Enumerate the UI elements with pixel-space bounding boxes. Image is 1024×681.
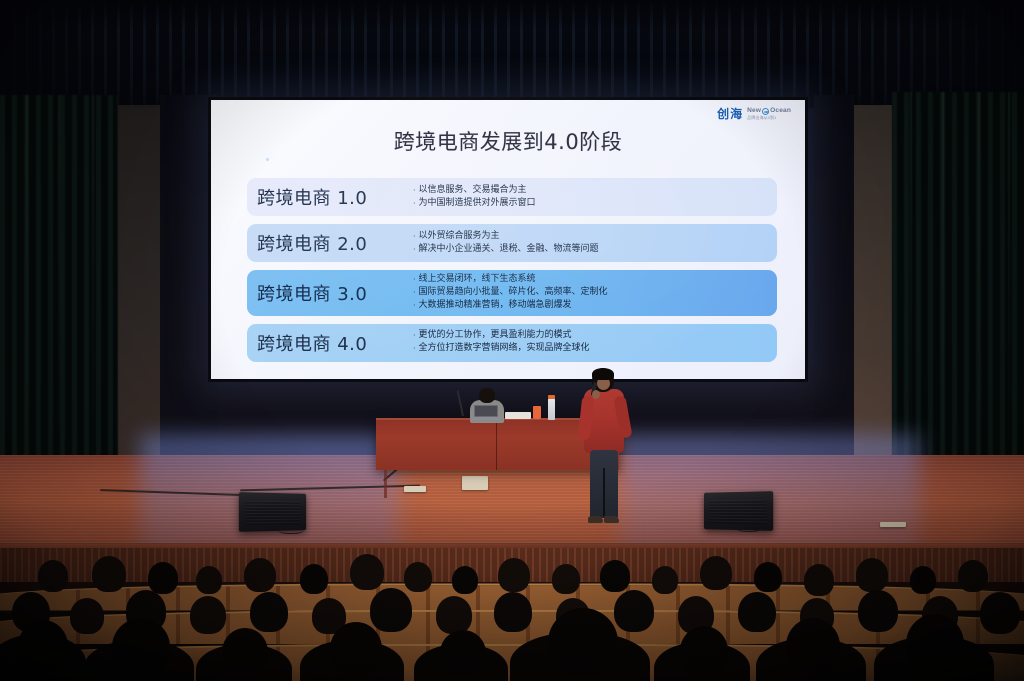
bullet-item: · 解决中小企业通关、退税、金融、物流等问题: [413, 244, 767, 256]
bullet-marker-icon: ·: [413, 198, 416, 210]
presenter-shoe-left: [588, 516, 603, 523]
lens-flare-dot: [266, 158, 269, 161]
logo-chinese-text: 创海: [717, 108, 743, 120]
bullet-text: 国际贸易趋向小批量、碎片化、高频率、定制化: [419, 287, 608, 299]
audience-head: [244, 558, 276, 592]
stage-curtain-right: [892, 92, 1024, 484]
bullet-text: 更优的分工协作，更具盈利能力的模式: [419, 330, 572, 342]
audience-head: [680, 626, 728, 676]
bullet-item: · 以信息服务、交易撮合为主: [413, 185, 767, 197]
audience-head: [370, 588, 412, 632]
audience-head: [906, 614, 964, 674]
bullet-text: 解决中小企业通关、退税、金融、物流等问题: [419, 244, 599, 256]
audience-head: [196, 566, 222, 594]
audience-head: [958, 560, 988, 592]
stage-curtain-left: [0, 95, 118, 475]
table-cup: [533, 406, 541, 419]
bullet-marker-icon: ·: [413, 343, 416, 355]
bullet-text: 全方位打造数字营销网络，实现品牌全球化: [419, 343, 590, 355]
presenter-shoe-right: [604, 516, 619, 523]
table-seam: [496, 420, 497, 470]
audience-head: [548, 608, 618, 676]
auditorium-scene: 创海 New Ocean 品牌出海从0到1 跨境电商发展到4.0阶段 跨境电商 …: [0, 0, 1024, 681]
bullet-item: · 全方位打造数字营销网络，实现品牌全球化: [413, 343, 767, 355]
audience-head: [18, 620, 68, 672]
company-logo: 创海 New Ocean 品牌出海从0到1: [717, 108, 791, 120]
stage-row-4-bullets: · 更优的分工协作，更具盈利能力的模式 · 全方位打造数字营销网络，实现品牌全球…: [407, 330, 767, 355]
logo-ocean-circle-icon: [762, 108, 769, 115]
audience-head: [300, 564, 328, 594]
audience-head: [222, 628, 268, 676]
audience-head: [754, 562, 782, 592]
audience-head: [786, 618, 840, 674]
stage-row-2-label: 跨境电商 2.0: [257, 230, 407, 256]
laptop-keyboard: [472, 417, 500, 420]
presenter: [580, 368, 628, 530]
audience-head: [856, 558, 888, 592]
stage-row-1-bullets: · 以信息服务、交易撮合为主 · 为中国制造提供对外展示窗口: [407, 185, 767, 210]
stage-row-1-label: 跨境电商 1.0: [257, 184, 407, 210]
bullet-item: · 以外贸综合服务为主: [413, 231, 767, 243]
audience-head: [600, 560, 630, 592]
audience-head: [38, 560, 68, 592]
floor-debris: [880, 522, 906, 527]
floor-equipment-box: [462, 476, 488, 490]
bullet-marker-icon: ·: [413, 231, 416, 243]
audience-head: [404, 562, 432, 592]
audience-head: [858, 590, 898, 632]
audience-head: [498, 558, 530, 592]
audience-head: [552, 564, 580, 594]
monitor-cable: [278, 524, 304, 534]
laptop-screen: [474, 405, 498, 417]
presentation-slide: 创海 New Ocean 品牌出海从0到1 跨境电商发展到4.0阶段 跨境电商 …: [211, 100, 805, 379]
audience-area: [0, 548, 1024, 681]
audience-head: [92, 556, 126, 592]
audience-head: [350, 554, 384, 590]
audience-head: [614, 590, 654, 632]
table-leg: [384, 470, 387, 498]
presenter-leg-gap: [603, 468, 605, 516]
water-bottle: [548, 398, 555, 420]
monitor-grille: [245, 501, 300, 526]
audience-head: [190, 596, 226, 634]
monitor-cable: [736, 522, 762, 532]
audience-head: [700, 556, 732, 590]
slide-title: 跨境电商发展到4.0阶段: [211, 126, 805, 156]
audience-head: [330, 622, 382, 676]
bullet-marker-icon: ·: [413, 185, 416, 197]
bullet-text: 大数据推动精准营销，移动端急剧爆发: [419, 300, 572, 312]
stage-row-3-label: 跨境电商 3.0: [257, 280, 407, 306]
bullet-text: 线上交易闭环，线下生态系统: [419, 274, 536, 286]
stage-row-4-label: 跨境电商 4.0: [257, 330, 407, 356]
bullet-marker-icon: ·: [413, 244, 416, 256]
stage-row-2-bullets: · 以外贸综合服务为主 · 解决中小企业通关、退税、金融、物流等问题: [407, 231, 767, 256]
bullet-item: · 更优的分工协作，更具盈利能力的模式: [413, 330, 767, 342]
audience-head: [148, 562, 178, 594]
audience-head: [70, 598, 104, 634]
audience-head: [112, 618, 170, 676]
audience-head: [738, 592, 776, 632]
audience-head: [804, 564, 834, 596]
bullet-marker-icon: ·: [413, 330, 416, 342]
logo-english-ocean: Ocean: [770, 108, 791, 115]
bullet-text: 以信息服务、交易撮合为主: [419, 185, 527, 197]
logo-tagline: 品牌出海从0到1: [747, 116, 791, 120]
audience-head: [436, 596, 472, 634]
bullet-marker-icon: ·: [413, 287, 416, 299]
floor-equipment-box: [404, 486, 426, 492]
audience-head: [250, 592, 288, 632]
bullet-item: · 为中国制造提供对外展示窗口: [413, 198, 767, 210]
laptop: [472, 405, 500, 420]
audience-head: [910, 566, 936, 594]
bullet-item: · 线上交易闭环，线下生态系统: [413, 274, 767, 286]
stage-rows-list: 跨境电商 1.0 · 以信息服务、交易撮合为主 · 为中国制造提供对外展示窗口 …: [247, 178, 777, 362]
audience-head: [652, 566, 678, 594]
table-papers: [505, 412, 531, 419]
stage-row-1: 跨境电商 1.0 · 以信息服务、交易撮合为主 · 为中国制造提供对外展示窗口: [247, 178, 777, 216]
monitor-grille: [709, 500, 766, 525]
audience-head: [980, 592, 1020, 634]
stage-row-3-bullets: · 线上交易闭环，线下生态系统 · 国际贸易趋向小批量、碎片化、高频率、定制化 …: [407, 274, 767, 312]
stage-row-4: 跨境电商 4.0 · 更优的分工协作，更具盈利能力的模式 · 全方位打造数字营销…: [247, 324, 777, 362]
bullet-item: · 国际贸易趋向小批量、碎片化、高频率、定制化: [413, 287, 767, 299]
presenter-hand: [592, 390, 600, 399]
bullet-marker-icon: ·: [413, 300, 416, 312]
audience-head: [440, 630, 486, 676]
logo-english-new: New: [747, 108, 761, 115]
bullet-text: 以外贸综合服务为主: [419, 231, 500, 243]
bullet-text: 为中国制造提供对外展示窗口: [419, 198, 536, 210]
presenter-hair: [592, 368, 614, 380]
bullet-item: · 大数据推动精准营销，移动端急剧爆发: [413, 300, 767, 312]
right-side-dark-area: [814, 95, 854, 485]
stage-row-3: 跨境电商 3.0 · 线上交易闭环，线下生态系统 · 国际贸易趋向小批量、碎片化…: [247, 270, 777, 316]
logo-english-block: New Ocean 品牌出海从0到1: [747, 108, 791, 120]
operator-head: [479, 388, 495, 403]
audience-head: [452, 566, 478, 594]
bullet-marker-icon: ·: [413, 274, 416, 286]
stage-row-2: 跨境电商 2.0 · 以外贸综合服务为主 · 解决中小企业通关、退税、金融、物流…: [247, 224, 777, 262]
audience-head: [494, 592, 532, 632]
water-bottle-cap: [548, 395, 555, 399]
